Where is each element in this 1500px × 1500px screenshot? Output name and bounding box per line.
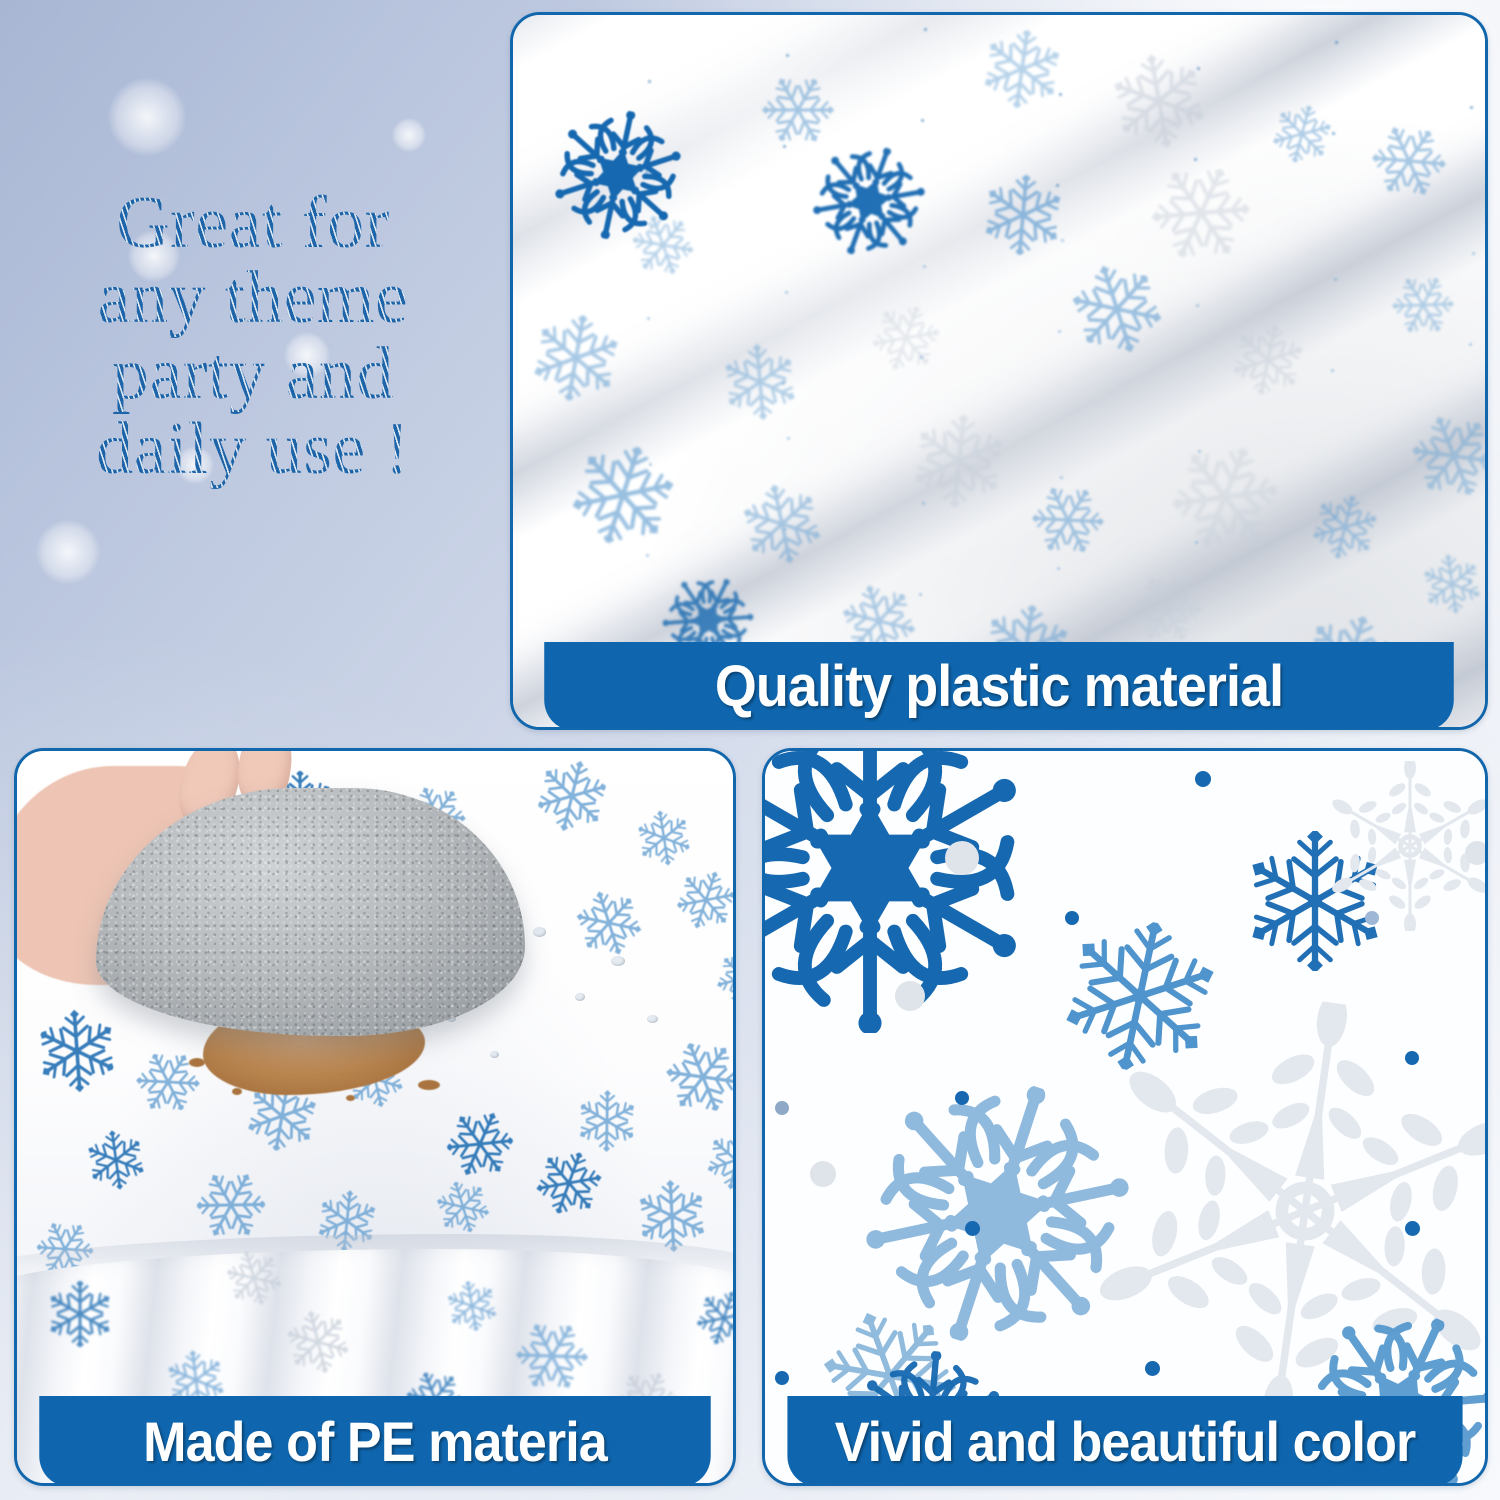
snow-dot [921,119,924,122]
snow-dot [647,317,650,320]
photo-color-closeup [765,751,1485,1483]
decorative-dot [895,981,925,1011]
decorative-dot [965,1221,980,1236]
water-bead [575,993,585,1001]
snow-dot [1472,252,1475,255]
snow-dot [1061,239,1064,242]
snow-dot [1057,567,1060,570]
headline-line-2: any theme [38,261,468,336]
snow-dot [1059,93,1062,96]
bokeh-dot [392,118,426,152]
decorative-dot [1405,1221,1420,1236]
snowflake-motifs-closeup [765,751,1485,1483]
caption-made-of-pe-material: Made of PE materia [39,1396,710,1486]
decorative-dot [1465,841,1485,865]
snow-dot [786,54,789,57]
snow-dot [920,356,923,359]
snow-dot [1331,369,1334,372]
snow-dot [924,28,927,31]
snow-dot [1333,515,1336,518]
snow-dot [1198,450,1201,453]
snow-dot [648,80,651,83]
headline-line-3: party and [38,337,468,412]
snow-dot [646,554,649,557]
decorative-dot [1405,1051,1419,1065]
headline-block: Great for any theme party and daily use … [38,186,468,488]
headline-line-1: Great for [38,186,468,261]
bokeh-dot [108,78,186,156]
snow-dot [782,382,785,385]
snow-dot [787,437,790,440]
water-bead [490,1051,499,1058]
snow-dot [1060,476,1063,479]
water-bead [533,927,546,937]
panel-made-of-pe-material[interactable]: Made of PE materia [14,748,736,1486]
snow-dot [783,145,786,148]
snow-dot [650,226,653,229]
snow-dot [649,463,652,466]
snow-dot [513,15,516,18]
snow-dot [922,502,925,505]
snow-dot [1335,41,1338,44]
water-bead [647,1015,658,1023]
snow-dot [1469,343,1472,346]
headline-line-4: daily use ! [38,412,468,487]
snow-dot [645,171,648,174]
decorative-dot [1145,1361,1160,1376]
spill-splatter [232,1088,242,1095]
snow-dot [923,265,926,268]
snowflake-pattern-top [513,15,1485,727]
panel-quality-plastic-material[interactable]: Quality plastic material [510,12,1488,730]
snow-dot [785,291,788,294]
decorative-dot [810,1161,836,1187]
decorative-dot [1365,911,1379,925]
snow-dot [1194,158,1197,161]
decorative-dot [945,841,979,875]
snow-dot [1470,106,1473,109]
caption-vivid-and-beautiful-color: Vivid and beautiful color [787,1396,1462,1486]
snow-dot [1058,330,1061,333]
bokeh-dot [36,520,100,584]
snow-dot [919,593,922,596]
caption-quality-plastic-material: Quality plastic material [544,642,1454,730]
snow-dot [1468,580,1471,583]
snow-dot [1056,184,1059,187]
decorative-dot [775,1101,789,1115]
photo-wipe-test [17,751,733,1483]
snow-dot [1332,132,1335,135]
decorative-dot [1195,771,1211,787]
panel-vivid-and-beautiful-color[interactable]: Vivid and beautiful color [762,748,1488,1486]
decorative-dot [775,1371,789,1385]
decorative-dot [955,1091,969,1105]
snow-dot [1196,304,1199,307]
snow-dot [1334,278,1337,281]
snow-dot [1197,67,1200,70]
snow-dot [1195,541,1198,544]
snow-dot [1471,489,1474,492]
decorative-dot [1065,911,1079,925]
snow-dot [784,528,787,531]
photo-plastic-sheet [513,15,1485,727]
